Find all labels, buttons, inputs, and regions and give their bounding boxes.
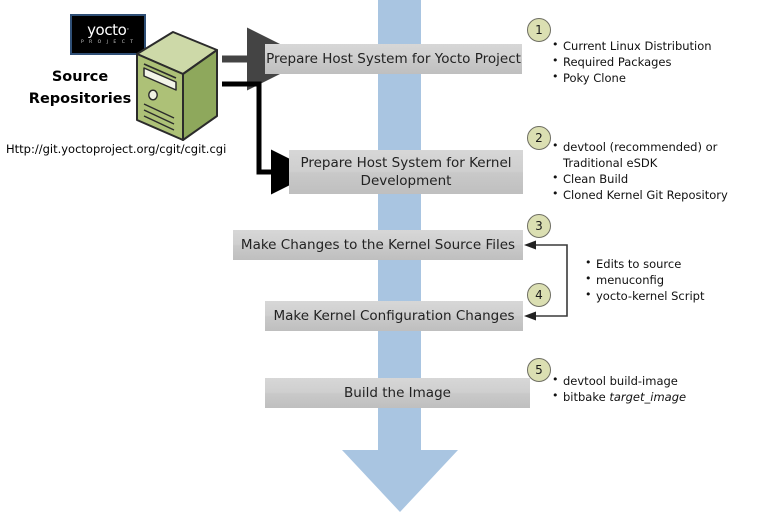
list-item: Cloned Kernel Git Repository: [552, 187, 728, 203]
list-item-continuation: Traditional eSDK: [552, 155, 728, 171]
process-box-3-label: Make Changes to the Kernel Source Files: [241, 236, 515, 254]
arrowhead-into-step3: [524, 241, 536, 250]
process-box-5-label: Build the Image: [344, 384, 451, 402]
list-item: Poky Clone: [552, 70, 712, 86]
process-box-make-source-changes[interactable]: Make Changes to the Kernel Source Files: [233, 230, 523, 260]
step-3-4-bullet-list: Edits to source menuconfig yocto-kernel …: [585, 256, 705, 304]
yocto-logo-dot: ·: [126, 25, 128, 35]
source-repositories-label: Source Repositories: [20, 66, 140, 110]
list-item: yocto-kernel Script: [585, 288, 705, 304]
process-box-2-line1: Prepare Host System for Kernel: [300, 155, 511, 171]
process-box-build-the-image[interactable]: Build the Image: [265, 378, 530, 408]
list-item: Edits to source: [585, 256, 705, 272]
source-label-line2: Repositories: [20, 88, 140, 110]
step-number-badge-3: 3: [527, 214, 551, 238]
list-item-emphasis: target_image: [609, 390, 686, 404]
step-2-bullet-list: devtool (recommended) or Traditional eSD…: [552, 139, 728, 203]
arrowhead-into-step4: [524, 312, 536, 321]
arrow-server-to-step2: [222, 84, 276, 172]
step-1-bullet-list: Current Linux Distribution Required Pack…: [552, 38, 712, 86]
process-box-prepare-host-yocto[interactable]: Prepare Host System for Yocto Project: [265, 44, 522, 74]
process-box-2-label: Prepare Host System for Kernel Developme…: [300, 154, 511, 190]
process-box-make-config-changes[interactable]: Make Kernel Configuration Changes: [265, 301, 523, 331]
list-item: Clean Build: [552, 171, 728, 187]
list-item: devtool (recommended) or: [552, 139, 728, 155]
server-tower-icon: [133, 28, 221, 144]
step-number-badge-5: 5: [527, 358, 551, 382]
step-number-badge-4: 4: [527, 283, 551, 307]
process-box-prepare-host-kernel[interactable]: Prepare Host System for Kernel Developme…: [289, 150, 523, 194]
process-box-1-label: Prepare Host System for Yocto Project: [266, 50, 521, 68]
list-item: bitbake target_image: [552, 389, 686, 405]
step-5-bullet-list: devtool build-image bitbake target_image: [552, 373, 686, 405]
step-number-badge-2: 2: [527, 126, 551, 150]
list-item: menuconfig: [585, 272, 705, 288]
list-item: Required Packages: [552, 54, 712, 70]
diagram-canvas: yocto· P R O J E C T Source Repositories…: [0, 0, 769, 517]
process-box-2-line2: Development: [361, 173, 452, 189]
source-label-line1: Source: [20, 66, 140, 88]
yocto-logo-subtitle: P R O J E C T: [81, 39, 135, 46]
list-item: devtool build-image: [552, 373, 686, 389]
process-box-4-label: Make Kernel Configuration Changes: [273, 307, 514, 325]
list-item: Current Linux Distribution: [552, 38, 712, 54]
list-item-text: bitbake: [563, 390, 609, 404]
yocto-logo-word: yocto·: [87, 23, 129, 38]
step-number-badge-1: 1: [527, 18, 551, 42]
source-repository-url: Http://git.yoctoproject.org/cgit/cgit.cg…: [6, 142, 226, 156]
main-flow-arrow-head: [342, 450, 458, 512]
